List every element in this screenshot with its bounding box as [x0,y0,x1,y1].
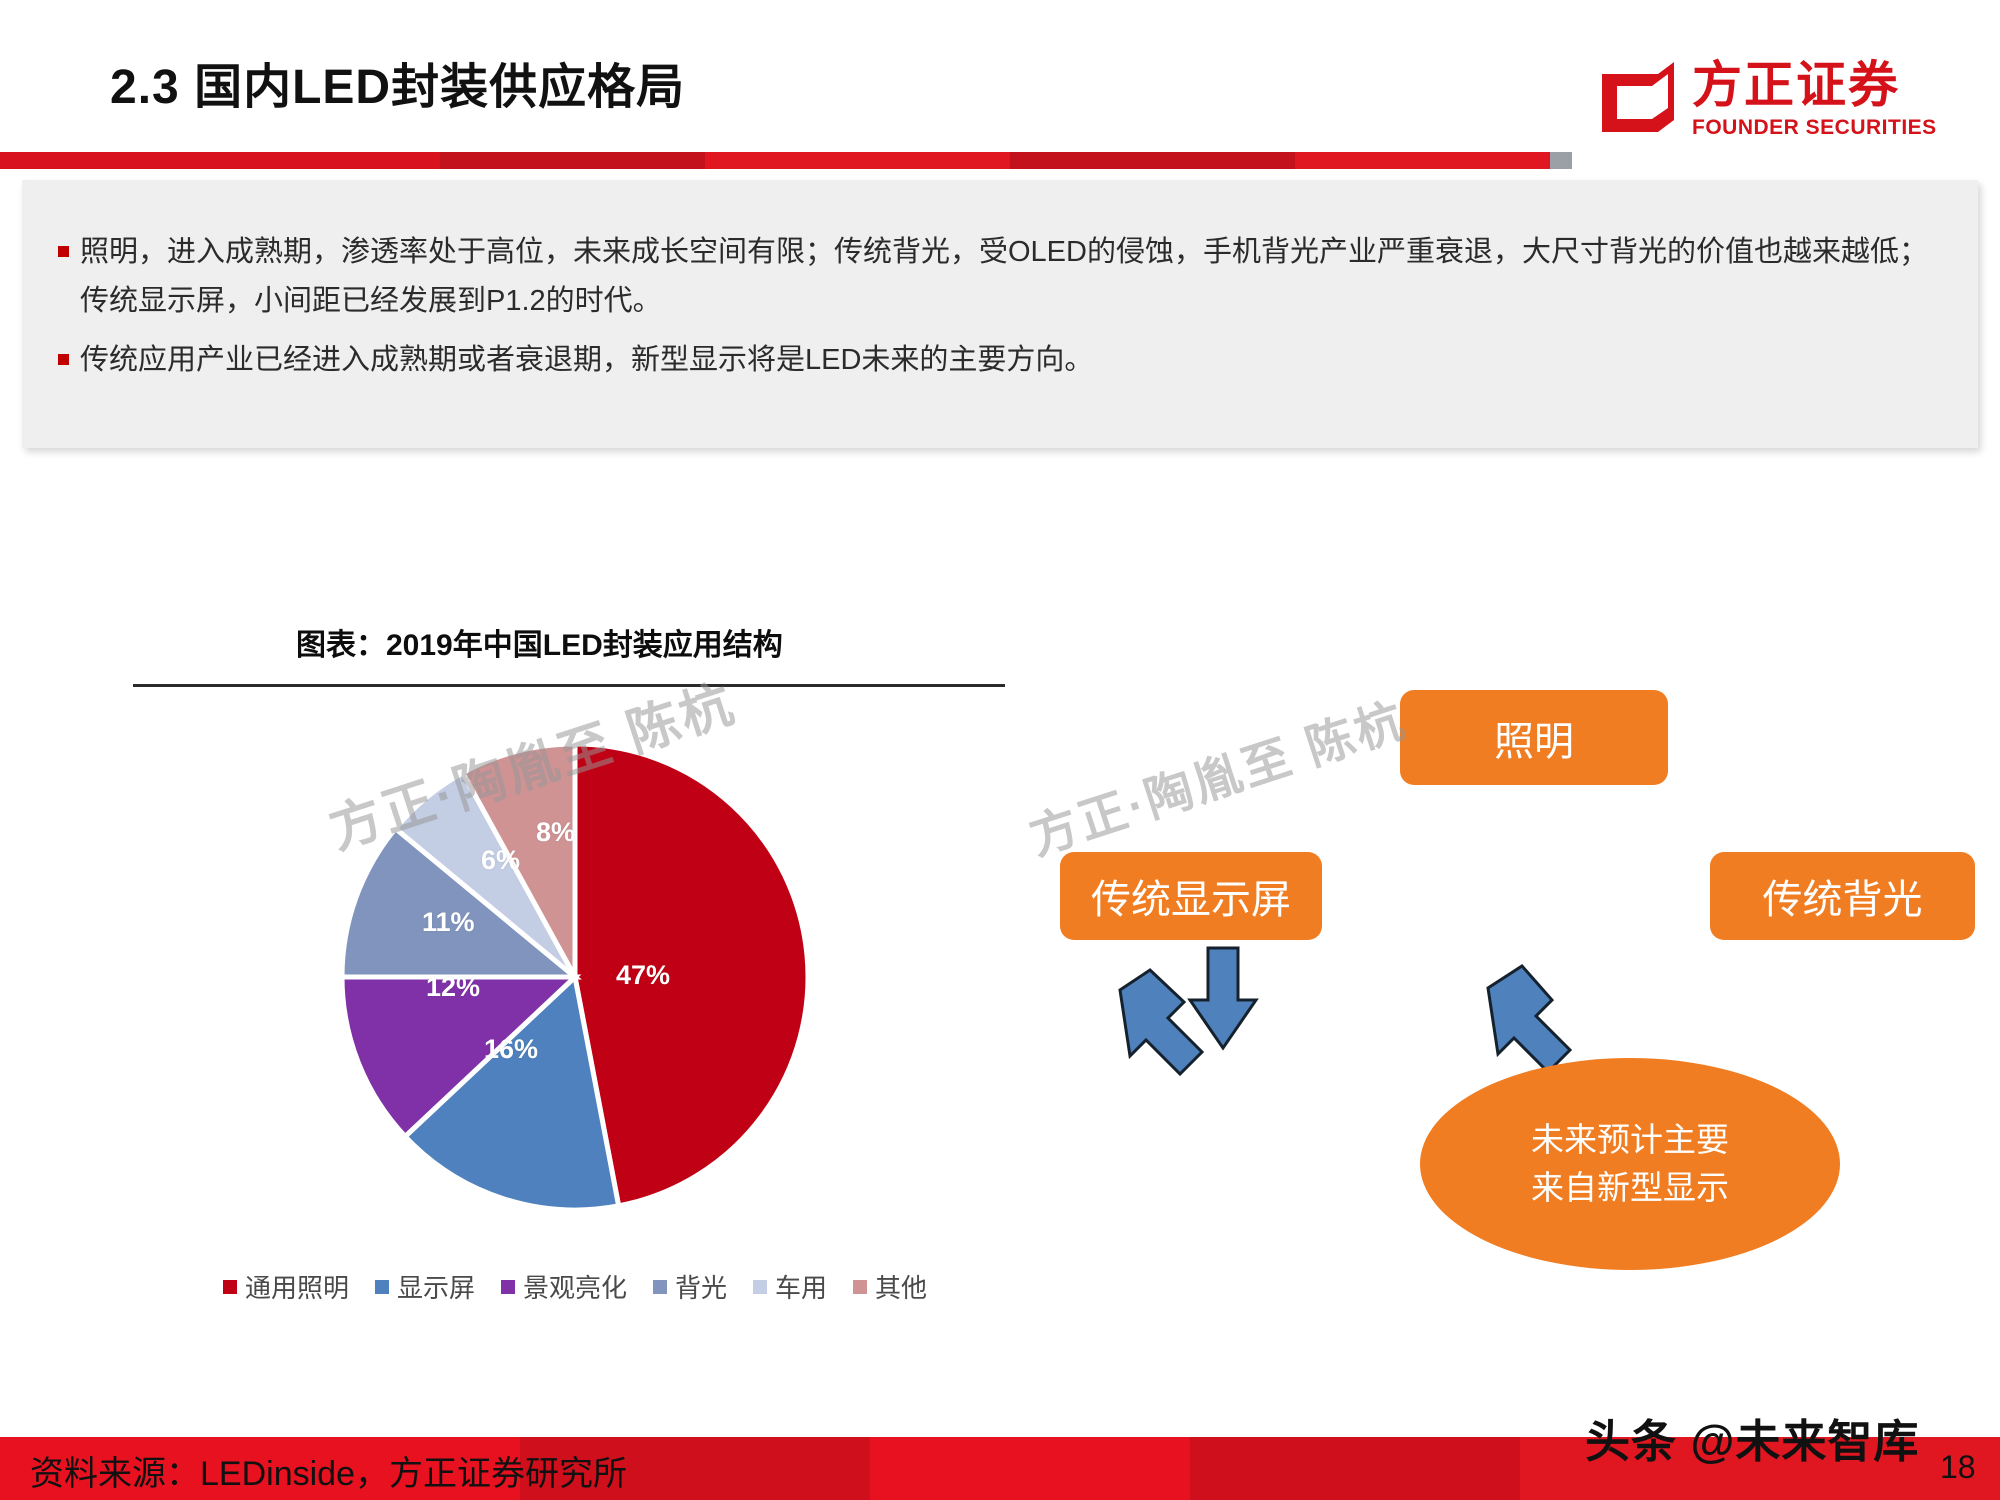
bullet-text: 传统应用产业已经进入成熟期或者衰退期，新型显示将是LED未来的主要方向。 [80,344,1093,376]
slide-root: 2.3 国内LED封装供应格局 方正证券 FOUNDER SECURITIES … [0,0,2000,1500]
pie-slice-label: 12% [426,972,480,1003]
pie-slice-label: 47% [616,960,670,991]
pie-chart: 47%16%12%11%6%8% [340,742,810,1212]
legend-swatch-icon [753,1280,767,1294]
page-number: 18 [1940,1449,1976,1486]
footer-bar-segment [1190,1437,1520,1500]
header-rule-segment [0,152,440,169]
pie-slice-label: 8% [536,817,575,848]
header-rule-segment [440,152,705,169]
header-rule-segment [1010,152,1295,169]
bullet-square-icon [58,354,69,365]
strategy-diagram: 照明 传统显示屏 传统背光 未来预计主要 来自新型显示 [1030,680,1970,1300]
bullet-square-icon [58,246,69,257]
page-title: 2.3 国内LED封装供应格局 [110,47,685,117]
chart-title: 图表：2019年中国LED封装应用结构 [296,620,783,664]
header-rule-gray-cap [1550,152,1572,169]
legend-item: 景观亮化 [501,1268,627,1305]
header-rule-segment [705,152,1010,169]
source-note: 资料来源：LEDinside，方正证券研究所 [30,1446,627,1495]
legend-label: 背光 [675,1268,727,1305]
legend-swatch-icon [501,1280,515,1294]
diagram-box-traditional-display: 传统显示屏 [1060,852,1322,940]
footer-bar-segment [870,1437,1190,1500]
list-item: 传统应用产业已经进入成熟期或者衰退期，新型显示将是LED未来的主要方向。 [50,336,1950,385]
diagram-box-label: 照明 [1494,709,1574,767]
legend-label: 其他 [875,1268,927,1305]
toutiao-attribution: 头条 @未来智库 [1585,1405,1919,1470]
arrow-down-icon [1190,948,1256,1048]
chart-legend: 通用照明显示屏景观亮化背光车用其他 [150,1268,1000,1305]
list-item: 照明，进入成熟期，渗透率处于高位，未来成长空间有限；传统背光，受OLED的侵蚀，… [50,228,1950,326]
pie-slice-label: 16% [484,1034,538,1065]
diagram-box-lighting: 照明 [1400,690,1668,785]
pie-chart-graphic [340,742,810,1212]
summary-panel: 照明，进入成熟期，渗透率处于高位，未来成长空间有限；传统背光，受OLED的侵蚀，… [22,180,1978,448]
bullet-text: 照明，进入成熟期，渗透率处于高位，未来成长空间有限；传统背光，受OLED的侵蚀，… [80,236,1928,317]
logo-english-text: FOUNDER SECURITIES [1692,116,1937,140]
diagram-box-traditional-backlight: 传统背光 [1710,852,1975,940]
bullet-list: 照明，进入成熟期，渗透率处于高位，未来成长空间有限；传统背光，受OLED的侵蚀，… [50,228,1950,395]
company-logo: 方正证券 FOUNDER SECURITIES [1600,56,1940,152]
diagram-box-label: 传统显示屏 [1091,867,1291,925]
legend-label: 显示屏 [397,1268,475,1305]
legend-swatch-icon [653,1280,667,1294]
ellipse-line-1: 未来预计主要 [1531,1116,1729,1164]
header-rule-segment [1295,152,1550,169]
founder-cube-icon [1600,62,1678,134]
legend-swatch-icon [375,1280,389,1294]
legend-label: 景观亮化 [523,1268,627,1305]
legend-item: 背光 [653,1268,727,1305]
pie-slice-label: 6% [481,845,520,876]
legend-label: 车用 [775,1268,827,1305]
arrow-up-left-icon [1120,970,1202,1074]
chart-title-divider [133,684,1005,687]
legend-swatch-icon [853,1280,867,1294]
arrow-up-right-icon [1488,966,1570,1072]
legend-swatch-icon [223,1280,237,1294]
pie-slice [575,744,808,1206]
legend-label: 通用照明 [245,1268,349,1305]
legend-item: 通用照明 [223,1268,349,1305]
legend-item: 显示屏 [375,1268,475,1305]
pie-slice-label: 11% [422,907,475,938]
diagram-box-label: 传统背光 [1763,867,1923,925]
logo-chinese-text: 方正证券 [1692,56,1900,114]
header-accent-rule [0,152,1575,169]
legend-item: 其他 [853,1268,927,1305]
ellipse-line-2: 来自新型显示 [1531,1164,1729,1212]
diagram-ellipse-future: 未来预计主要 来自新型显示 [1420,1058,1840,1270]
legend-item: 车用 [753,1268,827,1305]
